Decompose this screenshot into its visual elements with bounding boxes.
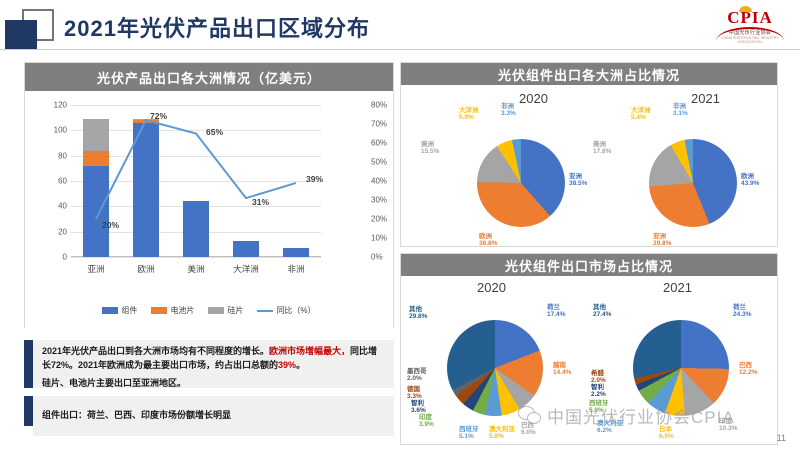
y-axis-tick: 40	[27, 202, 67, 211]
pie-slice-label: 欧洲36.8%	[479, 233, 497, 248]
legend-item[interactable]: 组件	[102, 305, 137, 316]
yoy-data-label: 39%	[306, 174, 323, 184]
pie-slice-label: 荷兰17.4%	[547, 304, 565, 319]
legend-item[interactable]: 电池片	[151, 305, 194, 316]
yoy-data-label: 20%	[102, 220, 119, 230]
pie-slice-label: 美洲17.8%	[593, 141, 611, 156]
page-title: 2021年光伏产品出口区域分布	[64, 11, 370, 43]
logo-english-name: CHINA PHOTOVOLTAIC INDUSTRY ASSOCIATION	[712, 36, 788, 44]
bar-plot: 0204060801001200%10%20%30%40%50%60%70%80…	[71, 105, 321, 257]
pie-slice-label: 其他27.4%	[593, 304, 611, 319]
market-year-2021: 2021	[663, 280, 692, 295]
pie-slice-label: 大洋洲5.4%	[631, 107, 651, 122]
market-pie-2021[interactable]	[633, 320, 729, 416]
legend-swatch	[102, 307, 118, 314]
x-axis-label: 非洲	[272, 263, 320, 275]
continent-pie-panel: 光伏组件出口各大洲占比情况 2020 2021 亚洲38.5%欧洲36.8%美洲…	[400, 62, 778, 247]
x-axis-label: 美洲	[172, 263, 220, 275]
market-pie-title: 光伏组件出口市场占比情况	[401, 254, 777, 276]
continent-pie-2021[interactable]	[649, 139, 737, 227]
page-number: 11	[777, 433, 786, 443]
bar-chart-area: 0204060801001200%10%20%30%40%50%60%70%80…	[25, 91, 393, 329]
bar-chart-legend: 组件电池片硅片同比（%）	[25, 305, 393, 316]
legend-label: 电池片	[170, 305, 194, 316]
bar-chart-panel: 光伏产品出口各大洲情况（亿美元） 0204060801001200%10%20%…	[24, 62, 394, 328]
note-text-a: 2021年光伏产品出口到各大洲市场均有不同程度的增长。	[42, 346, 269, 356]
legend-swatch	[257, 310, 273, 312]
y-axis-tick: 60	[27, 177, 67, 186]
note-highlight-1: 欧洲市场增幅最大，	[269, 346, 350, 356]
yoy-data-label: 31%	[252, 197, 269, 207]
market-pie-body: 2020 2021 荷兰17.4%越南14.4%巴西6.0%澳大利亚5.8%西班…	[401, 276, 777, 444]
pie-slice-label: 印度10.3%	[719, 418, 737, 433]
header-divider	[0, 49, 800, 50]
pie-slice-label: 日本6.5%	[659, 426, 674, 441]
legend-swatch	[208, 307, 224, 314]
note-secondary-body: 组件出口：荷兰、巴西、印度市场份额增长明显	[33, 396, 394, 436]
pie-slice-label: 越南14.4%	[553, 362, 571, 377]
note-accent-bar-2	[24, 396, 33, 426]
pie-slice-label: 欧洲43.9%	[741, 173, 759, 188]
note-line-1: 2021年光伏产品出口到各大洲市场均有不同程度的增长。欧洲市场增幅最大，同比增长…	[42, 345, 385, 373]
pie-slice-label: 德国3.3%	[407, 386, 422, 401]
yoy-data-label: 65%	[206, 127, 223, 137]
y-axis-tick: 0	[27, 253, 67, 262]
note-accent-bar	[24, 340, 33, 388]
continent-pie-title: 光伏组件出口各大洲占比情况	[401, 63, 777, 85]
y-axis-tick: 120	[27, 101, 67, 110]
note-block-primary: 2021年光伏产品出口到各大洲市场均有不同程度的增长。欧洲市场增幅最大，同比增长…	[24, 340, 394, 388]
pie-slice-label: 巴西12.2%	[739, 362, 757, 377]
pie-slice-label: 美洲15.5%	[421, 141, 439, 156]
market-year-2020: 2020	[477, 280, 506, 295]
y-axis-tick: 20	[27, 227, 67, 236]
x-axis-label: 亚洲	[72, 263, 120, 275]
legend-item[interactable]: 硅片	[208, 305, 243, 316]
pie-slice-label: 西班牙5.1%	[459, 426, 479, 441]
pie-slice-label: 荷兰24.3%	[733, 304, 751, 319]
legend-label: 组件	[121, 305, 137, 316]
pie-slice-label: 希腊2.0%	[591, 370, 606, 385]
pie-slice-label: 其他29.8%	[409, 306, 427, 321]
note-primary-body: 2021年光伏产品出口到各大洲市场均有不同程度的增长。欧洲市场增幅最大，同比增长…	[33, 340, 394, 388]
y-axis-tick: 100	[27, 126, 67, 135]
legend-label: 硅片	[227, 305, 243, 316]
pie-slice-label: 澳大利亚6.2%	[597, 420, 623, 435]
note-line-2: 硅片、电池片主要出口至亚洲地区。	[42, 377, 385, 391]
gridline	[71, 257, 321, 258]
x-axis-label: 大洋洲	[222, 263, 270, 275]
legend-item[interactable]: 同比（%）	[257, 305, 315, 316]
x-axis-label: 欧洲	[122, 263, 170, 275]
pie-slice-label: 澳大利亚5.8%	[489, 426, 515, 441]
continent-year-2020: 2020	[519, 91, 548, 106]
logo-chinese-name: 中国光伏行业协会	[712, 29, 788, 36]
yoy-line-series	[71, 105, 321, 257]
header-square-solid-icon	[5, 20, 37, 50]
note-block-secondary: 组件出口：荷兰、巴西、印度市场份额增长明显	[24, 396, 394, 426]
legend-label: 同比（%）	[276, 305, 315, 316]
slide: 2021年光伏产品出口区域分布 CPIA 中国光伏行业协会 CHINA PHOT…	[0, 0, 800, 449]
pie-slice-label: 巴西6.0%	[521, 422, 536, 437]
pie-slice-label: 智利3.6%	[411, 400, 426, 415]
slide-header: 2021年光伏产品出口区域分布 CPIA 中国光伏行业协会 CHINA PHOT…	[0, 0, 800, 50]
logo-acronym: CPIA	[712, 8, 788, 28]
pie-slice-label: 非洲3.3%	[501, 103, 516, 118]
pie-slice-label: 亚洲38.5%	[569, 173, 587, 188]
pie-slice-label: 印度3.9%	[419, 414, 434, 429]
note-highlight-2: 39%	[278, 360, 296, 370]
pie-slice-label: 亚洲29.8%	[653, 233, 671, 248]
continent-year-2021: 2021	[691, 91, 720, 106]
continent-pie-body: 2020 2021 亚洲38.5%欧洲36.8%美洲15.5%大洋洲5.9%非洲…	[401, 85, 777, 246]
continent-pie-2020[interactable]	[477, 139, 565, 227]
market-pie-2020[interactable]	[447, 320, 543, 416]
yoy-data-label: 72%	[150, 111, 167, 121]
pie-slice-label: 墨西哥2.0%	[407, 368, 427, 383]
pie-slice-label: 西班牙5.0%	[589, 400, 609, 415]
pie-slice-label: 非洲3.1%	[673, 103, 688, 118]
pie-slice-label: 大洋洲5.9%	[459, 107, 479, 122]
pie-slice-label: 智利2.2%	[591, 384, 606, 399]
cpia-logo: CPIA 中国光伏行业协会 CHINA PHOTOVOLTAIC INDUSTR…	[712, 5, 788, 45]
note-text-c: 。	[296, 360, 305, 370]
y-axis-tick: 80	[27, 151, 67, 160]
market-pie-panel: 光伏组件出口市场占比情况 2020 2021 荷兰17.4%越南14.4%巴西6…	[400, 253, 778, 445]
legend-swatch	[151, 307, 167, 314]
bar-chart-title: 光伏产品出口各大洲情况（亿美元）	[25, 63, 393, 91]
